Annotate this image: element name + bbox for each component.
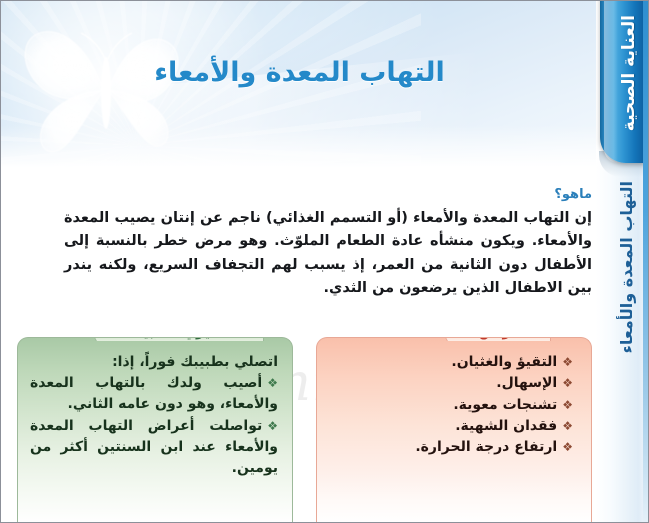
symptoms-list: ❖التقيؤ والغثيان. ❖الإسهال. ❖تشنجات معوي… — [331, 352, 573, 458]
diamond-bullet-icon: ❖ — [267, 417, 278, 435]
list-item: ❖ارتفاع درجة الحرارة. — [331, 437, 573, 458]
list-item: ❖فقدان الشهية. — [331, 416, 573, 437]
diamond-bullet-icon: ❖ — [562, 353, 573, 371]
list-item: ❖الإسهال. — [331, 373, 573, 394]
list-item-label: ارتفاع درجة الحرارة. — [415, 439, 557, 455]
rail-section-label: العناية الصحية — [619, 15, 639, 131]
diamond-bullet-icon: ❖ — [562, 374, 573, 392]
rail-edge-stripe — [643, 1, 648, 523]
list-item: ❖أصيب ولدك بالتهاب المعدة والأمعاء، وهو … — [30, 373, 278, 416]
symptoms-panel: الأعراض ❖التقيؤ والغثيان. ❖الإسهال. ❖تشن… — [316, 337, 592, 523]
page-title: التهاب المعدة والأمعاء — [1, 57, 598, 88]
banner-fade — [1, 125, 598, 171]
consult-panel-tab: استشيري الطبيب — [105, 337, 264, 341]
diamond-bullet-icon: ❖ — [562, 438, 573, 456]
list-item: ❖تشنجات معوية. — [331, 395, 573, 416]
list-item-label: الإسهال. — [496, 375, 557, 391]
list-item: ❖تواصلت أعراض التهاب المعدة والأمعاء عند… — [30, 416, 278, 480]
diamond-bullet-icon: ❖ — [562, 417, 573, 435]
consult-list: ❖أصيب ولدك بالتهاب المعدة والأمعاء، وهو … — [30, 373, 278, 479]
diamond-bullet-icon: ❖ — [562, 396, 573, 414]
symptoms-panel-tab: الأعراض — [456, 337, 551, 341]
list-item-label: التقيؤ والغثيان. — [451, 354, 557, 370]
right-rail: العناية الصحية التهاب المعدة والأمعاء — [596, 1, 648, 523]
consult-doctor-panel: استشيري الطبيب اتصلي بطبيبك فوراً، إذا: … — [17, 337, 293, 523]
list-item-label: تواصلت أعراض التهاب المعدة والأمعاء عند … — [30, 418, 278, 477]
list-item-label: أصيب ولدك بالتهاب المعدة والأمعاء، وهو د… — [30, 375, 278, 412]
page-root: التهاب المعدة والأمعاء ماهو؟ إن التهاب ا… — [0, 0, 649, 523]
intro-heading: ماهو؟ — [64, 187, 592, 202]
consult-panel-body: استشيري الطبيب اتصلي بطبيبك فوراً، إذا: … — [17, 337, 293, 523]
header-banner: التهاب المعدة والأمعاء — [1, 1, 598, 171]
rail-topic-label: التهاب المعدة والأمعاء — [617, 181, 636, 353]
intro-paragraph: إن التهاب المعدة والأمعاء (أو التسمم الغ… — [64, 207, 592, 301]
intro-section: ماهو؟ إن التهاب المعدة والأمعاء (أو التس… — [64, 187, 592, 301]
list-item-label: تشنجات معوية. — [453, 397, 557, 413]
list-item-label: فقدان الشهية. — [455, 418, 557, 434]
diamond-bullet-icon: ❖ — [267, 374, 278, 392]
consult-lead-text: اتصلي بطبيبك فوراً، إذا: — [30, 354, 278, 370]
list-item: ❖التقيؤ والغثيان. — [331, 352, 573, 373]
symptoms-panel-body: الأعراض ❖التقيؤ والغثيان. ❖الإسهال. ❖تشن… — [316, 337, 592, 523]
rail-tab-gloss — [604, 1, 618, 163]
